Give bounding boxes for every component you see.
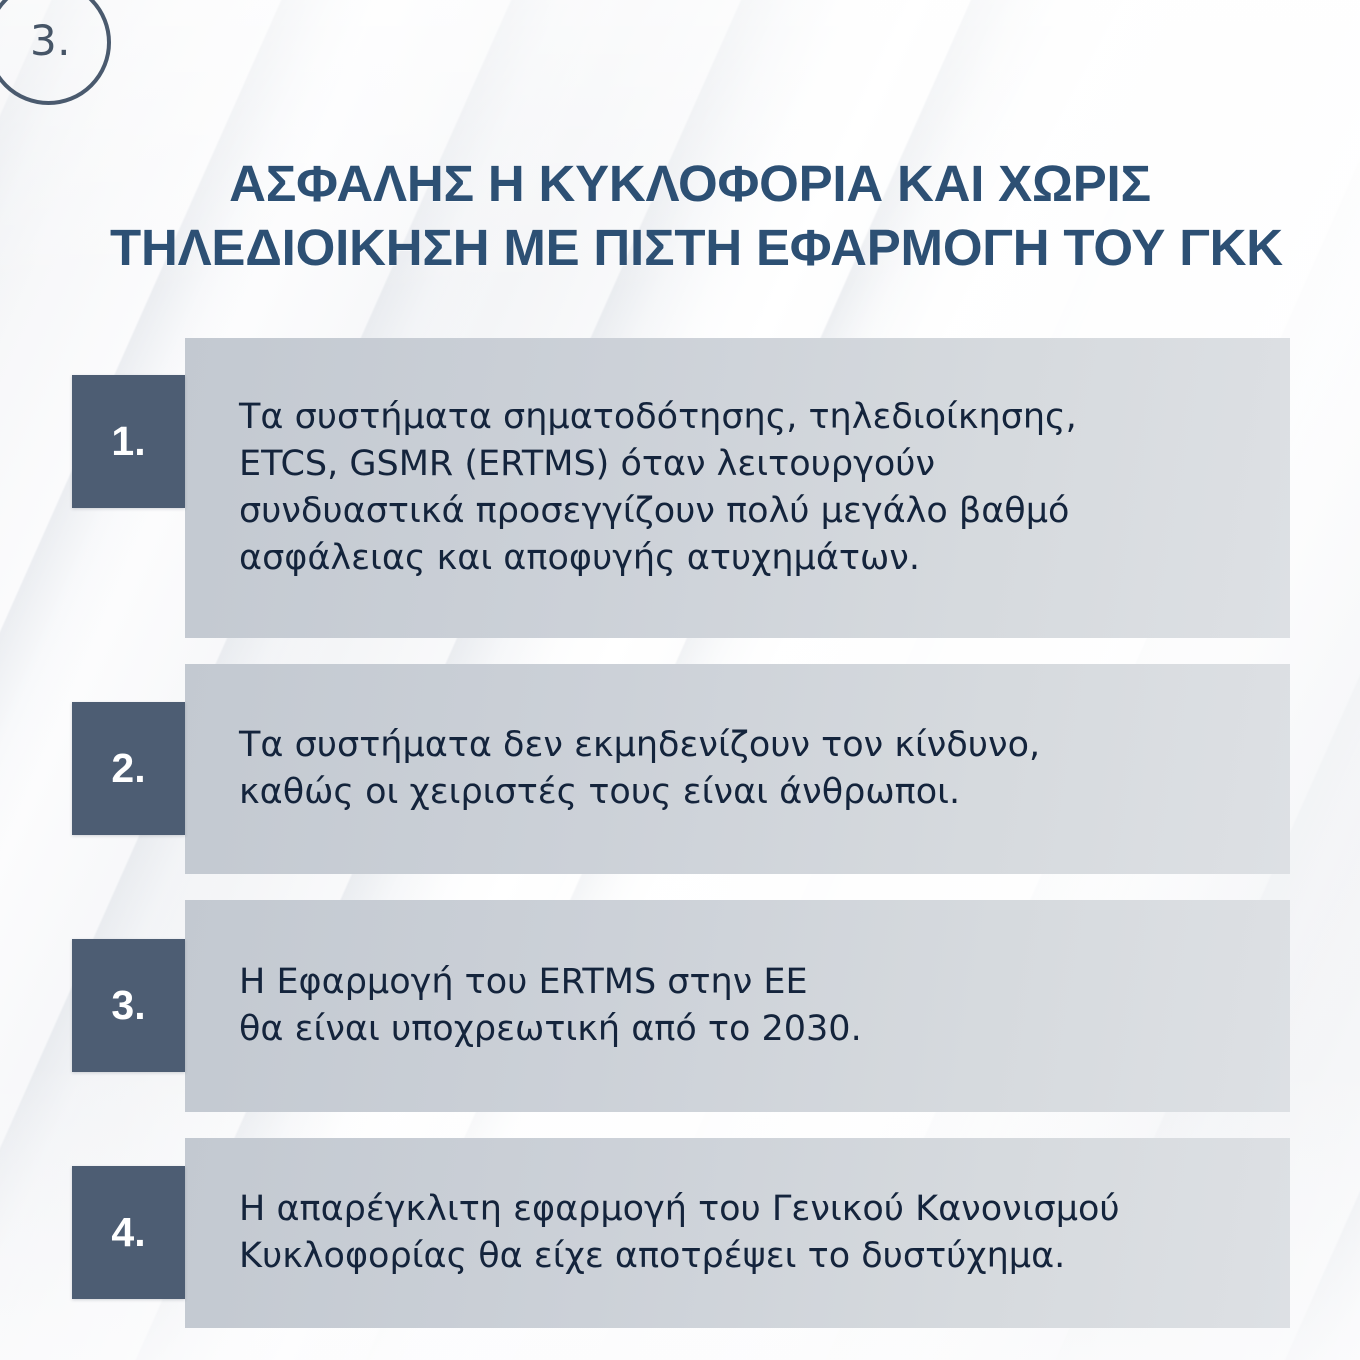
list-item-panel: Η απαρέγκλιτη εφαρμογή του Γενικού Κανον… [185,1138,1290,1328]
list-item: Η απαρέγκλιτη εφαρμογή του Γενικού Κανον… [0,1138,1360,1328]
slide-canvas: 3. ΑΣΦΑΛΗΣ Η ΚΥΚΛΟΦΟΡΙΑ ΚΑΙ ΧΩΡΙΣ ΤΗΛΕΔΙ… [0,0,1360,1360]
page-title: ΑΣΦΑΛΗΣ Η ΚΥΚΛΟΦΟΡΙΑ ΚΑΙ ΧΩΡΙΣ ΤΗΛΕΔΙΟΙΚ… [110,152,1270,281]
list-item-panel-inner: Η απαρέγκλιτη εφαρμογή του Γενικού Κανον… [185,1151,1290,1315]
numbered-list: Τα συστήματα σηματοδότησης, τηλεδιοίκηση… [0,338,1360,1354]
list-item-text: Η απαρέγκλιτη εφαρμογή του Γενικού Κανον… [239,1186,1250,1280]
list-item-text: Τα συστήματα σηματοδότησης, τηλεδιοίκηση… [239,394,1250,582]
list-item-number-badge: 4. [72,1166,185,1299]
list-item-panel: Τα συστήματα δεν εκμηδενίζουν τον κίνδυν… [185,664,1290,874]
list-item-text: Η Εφαρμογή του ERTMS στην ΕΕ θα είναι υπ… [239,959,1250,1053]
list-item-panel: Η Εφαρμογή του ERTMS στην ΕΕ θα είναι υπ… [185,900,1290,1112]
list-item: Η Εφαρμογή του ERTMS στην ΕΕ θα είναι υπ… [0,900,1360,1112]
list-item-number-badge: 1. [72,375,185,508]
list-item-number-badge: 2. [72,702,185,835]
list-item: Τα συστήματα σηματοδότησης, τηλεδιοίκηση… [0,338,1360,638]
list-item-panel-inner: Η Εφαρμογή του ERTMS στην ΕΕ θα είναι υπ… [185,924,1290,1088]
list-item-panel-inner: Τα συστήματα δεν εκμηδενίζουν τον κίνδυν… [185,687,1290,851]
list-item-panel: Τα συστήματα σηματοδότησης, τηλεδιοίκηση… [185,338,1290,638]
page-title-line-2: ΤΗΛΕΔΙΟΙΚΗΣΗ ΜΕ ΠΙΣΤΗ ΕΦΑΡΜΟΓΗ ΤΟΥ ΓΚΚ [110,216,1270,280]
list-item-number-badge: 3. [72,939,185,1072]
list-item-panel-inner: Τα συστήματα σηματοδότησης, τηλεδιοίκηση… [185,359,1290,617]
list-item-text: Τα συστήματα δεν εκμηδενίζουν τον κίνδυν… [239,722,1250,816]
step-number-circle: 3. [0,0,111,105]
page-title-line-1: ΑΣΦΑΛΗΣ Η ΚΥΚΛΟΦΟΡΙΑ ΚΑΙ ΧΩΡΙΣ [110,152,1270,216]
step-number-label: 3. [30,16,71,65]
list-item: Τα συστήματα δεν εκμηδενίζουν τον κίνδυν… [0,664,1360,874]
